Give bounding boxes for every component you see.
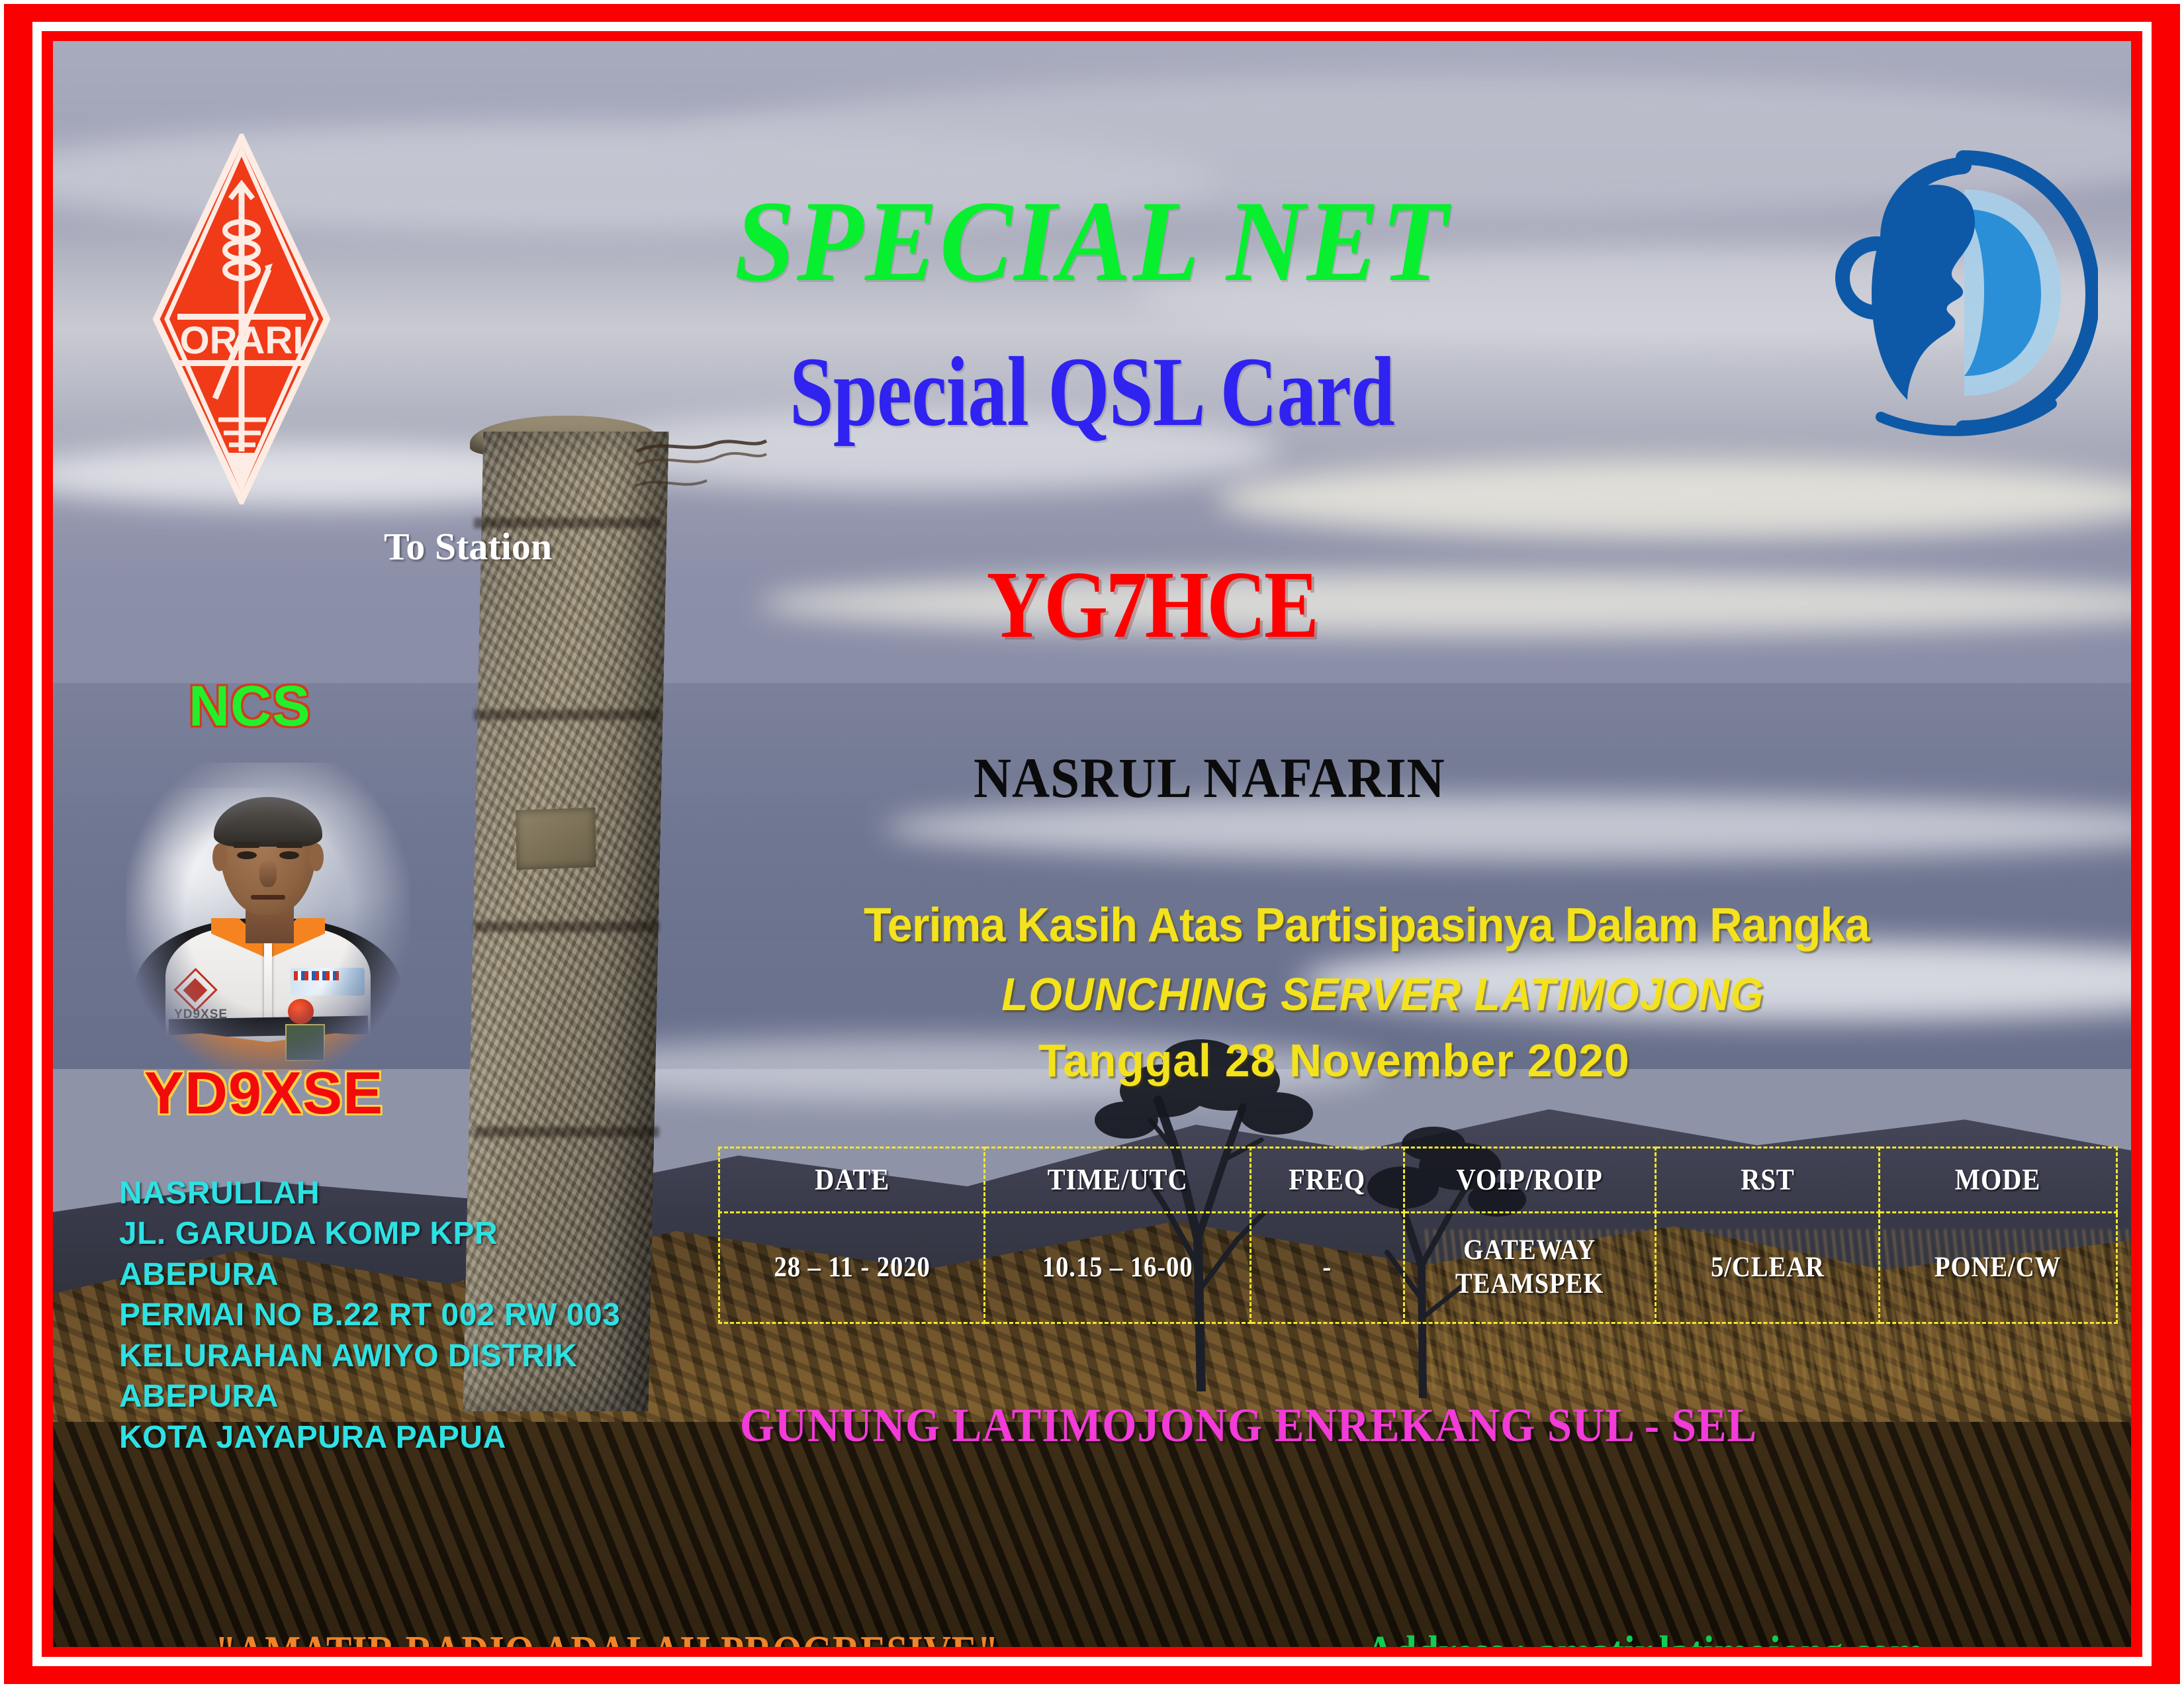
table-cell-mode: PONE/CW bbox=[1891, 1213, 2105, 1323]
table-header-row: DATE TIME/UTC FREQ VOIP/ROIP RST MODE bbox=[719, 1148, 2117, 1213]
event-location-line: GUNUNG LATIMOJONG ENREKANG SUL - SEL bbox=[740, 1401, 1757, 1449]
uniform-logo-patch-stripe bbox=[294, 971, 340, 980]
background-mountain-photo: ORARI bbox=[53, 41, 2131, 1647]
ncs-label: NCS bbox=[189, 678, 311, 735]
table-cell-voip-roip: GATEWAY TEAMSPEK bbox=[1416, 1213, 1643, 1323]
table-row: 28 – 11 - 2020 10.15 – 16-00 - GATEWAY T… bbox=[719, 1213, 2117, 1323]
thanks-line-1: Terima Kasih Atas Partisipasinya Dalam R… bbox=[864, 902, 1870, 949]
card-title-special-net: SPECIAL NET bbox=[115, 183, 2069, 299]
table-header-voip-roip: VOIP/ROIP bbox=[1416, 1148, 1643, 1213]
table-header-mode: MODE bbox=[1891, 1148, 2105, 1213]
uniform-callsign-text: YD9XSE bbox=[174, 1008, 259, 1021]
voip-roip-line-2: TEAMSPEK bbox=[1455, 1268, 1604, 1299]
address-line: ABEPURA bbox=[119, 1376, 675, 1417]
thanks-line-2-event: LOUNCHING SERVER LATIMOJONG bbox=[1001, 971, 1764, 1017]
address-line: NASRULLAH bbox=[119, 1173, 675, 1213]
portrait-mouth bbox=[251, 895, 285, 900]
table-header-time: TIME/UTC bbox=[998, 1148, 1237, 1213]
table-cell-time: 10.15 – 16-00 bbox=[998, 1213, 1237, 1323]
table-header-date: DATE bbox=[733, 1148, 972, 1213]
address-line: KOTA JAYAPURA PAPUA bbox=[119, 1417, 675, 1458]
operator-name: NASRUL NAFARIN bbox=[974, 749, 1445, 806]
portrait-brow-right bbox=[277, 842, 302, 848]
thanks-line-3-date: Tanggal 28 November 2020 bbox=[1038, 1037, 1630, 1084]
table-cell-freq: - bbox=[1258, 1213, 1396, 1323]
pillar-band bbox=[474, 1127, 659, 1137]
pillar-band bbox=[474, 710, 659, 720]
web-address: Address : amatir.latimojong.com bbox=[1366, 1630, 1924, 1647]
qso-log-table: DATE TIME/UTC FREQ VOIP/ROIP RST MODE 28… bbox=[718, 1147, 2118, 1324]
portrait-eye-left bbox=[237, 851, 257, 859]
ncs-portrait-photo: YD9XSE bbox=[126, 763, 410, 1074]
voip-roip-line-1: GATEWAY bbox=[1463, 1235, 1596, 1266]
sender-address-block: NASRULLAH JL. GARUDA KOMP KPR ABEPURA PE… bbox=[119, 1173, 675, 1458]
id-badge bbox=[285, 1024, 325, 1061]
card-subtitle-special-qsl-card: Special QSL Card bbox=[261, 342, 1923, 442]
table-cell-rst: 5/CLEAR bbox=[1666, 1213, 1868, 1323]
club-motto: "AMATIR RADIO ADALAH PROGRESIVE" bbox=[215, 1630, 999, 1647]
id-badge-reel bbox=[288, 999, 314, 1024]
address-line: JL. GARUDA KOMP KPR bbox=[119, 1213, 675, 1254]
address-line: KELURAHAN AWIYO DISTRIK bbox=[119, 1336, 675, 1376]
cloud-band bbox=[1216, 459, 2131, 539]
pillar-plaque bbox=[516, 808, 596, 870]
portrait-ear-left bbox=[212, 843, 227, 871]
address-line: ABEPURA bbox=[119, 1254, 675, 1295]
to-station-label: To Station bbox=[384, 528, 552, 566]
address-line: PERMAI NO B.22 RT 002 RW 003 bbox=[119, 1295, 675, 1335]
portrait-ear-right bbox=[309, 843, 324, 871]
cloud-band bbox=[760, 571, 2131, 635]
table-header-freq: FREQ bbox=[1258, 1148, 1396, 1213]
table-cell-date: 28 – 11 - 2020 bbox=[733, 1213, 972, 1323]
ncs-callsign: YD9XSE bbox=[144, 1064, 383, 1123]
qsl-card: ORARI bbox=[0, 0, 2184, 1688]
portrait-brow-left bbox=[234, 842, 259, 848]
recipient-callsign: YG7HCE bbox=[987, 557, 1317, 653]
portrait-nose bbox=[259, 859, 277, 887]
pillar-wire bbox=[635, 432, 768, 511]
table-header-rst: RST bbox=[1666, 1148, 1868, 1213]
pillar-band bbox=[474, 921, 659, 932]
